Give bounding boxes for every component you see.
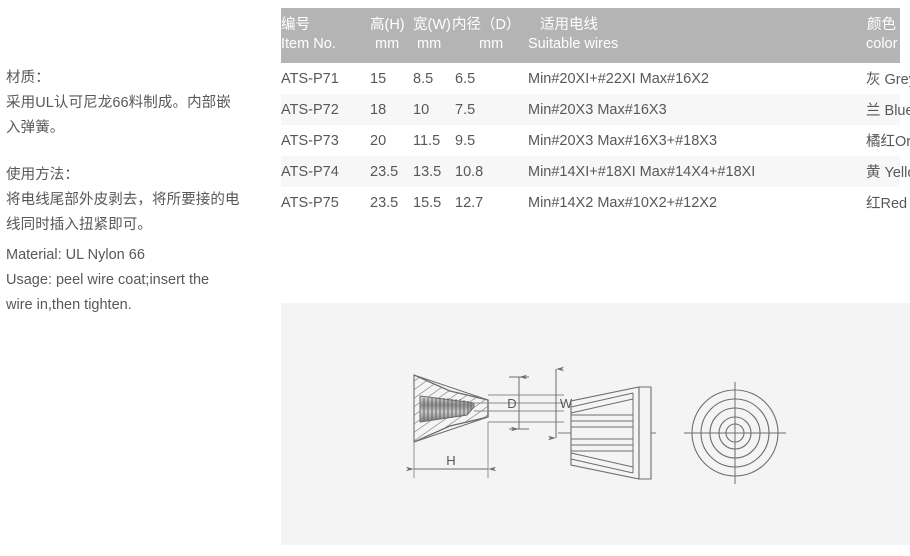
column-header-suitable-wires-en: Suitable wires [528, 35, 866, 54]
column-header-height: 高(H) mm [370, 8, 413, 63]
usage-body-cn-line2: 线同时插入扭紧即可。 [6, 213, 264, 238]
column-header-inner-diameter: 内径（D） mm [455, 8, 528, 63]
material-body-cn-line2: 入弹簧。 [6, 116, 264, 141]
material-note-en: Material: UL Nylon 66 [6, 243, 256, 268]
column-header-item-no-cn: 编号 [281, 16, 370, 35]
material-note-cn: 材质： 采用UL认可尼龙66料制成。内部嵌 入弹簧。 [6, 66, 264, 141]
side-view-nose [639, 387, 651, 479]
usage-title-cn: 使用方法： [6, 163, 264, 188]
cell-height: 23.5 [370, 156, 413, 187]
cell-item-no: ATS-P72 [281, 94, 370, 125]
material-title-cn: 材质： [6, 66, 264, 91]
cell-width: 8.5 [413, 63, 455, 94]
figure-front-view [684, 382, 786, 484]
specification-table: 编号 Item No. 高(H) mm 宽(W) mm 内径（D） mm 适用电… [281, 8, 900, 218]
cell-color: 灰 Grey [866, 63, 900, 94]
cell-height: 23.5 [370, 187, 413, 218]
column-header-height-cn: 高(H) [370, 16, 413, 35]
cell-inner-diameter: 7.5 [455, 94, 528, 125]
cell-suitable-wires: Min#20XI+#22XI Max#16X2 [528, 63, 866, 94]
table-row: ATS-P73 20 11.5 9.5 Min#20X3 Max#16X3+#1… [281, 125, 900, 156]
table-body: ATS-P71 15 8.5 6.5 Min#20XI+#22XI Max#16… [281, 63, 900, 218]
cell-color: 黄 Yellow [866, 156, 900, 187]
table-header: 编号 Item No. 高(H) mm 宽(W) mm 内径（D） mm 适用电… [281, 8, 900, 63]
cell-color: 橘红Orange [866, 125, 900, 156]
cell-suitable-wires: Min#20X3 Max#16X3+#18X3 [528, 125, 866, 156]
cell-width: 11.5 [413, 125, 455, 156]
cell-width: 10 [413, 94, 455, 125]
notes-spacer [6, 141, 264, 163]
column-header-inner-diameter-unit: mm [455, 35, 528, 54]
table-row: ATS-P75 23.5 15.5 12.7 Min#14X2 Max#10X2… [281, 187, 900, 218]
cell-width: 13.5 [413, 156, 455, 187]
cell-width: 15.5 [413, 187, 455, 218]
technical-drawing: D W H [281, 303, 910, 545]
column-header-height-unit: mm [370, 35, 413, 54]
usage-note-en-line1: Usage: peel wire coat;insert the [6, 268, 256, 293]
cell-inner-diameter: 12.7 [455, 187, 528, 218]
column-header-item-no: 编号 Item No. [281, 8, 370, 63]
cell-suitable-wires: Min#20X3 Max#16X3 [528, 94, 866, 125]
column-header-width-cn: 宽(W) [413, 16, 455, 35]
cell-item-no: ATS-P74 [281, 156, 370, 187]
technical-drawing-panel: D W H [281, 303, 910, 545]
cell-inner-diameter: 9.5 [455, 125, 528, 156]
column-header-color-cn: 颜色 [866, 16, 900, 35]
figure-side-view [558, 387, 656, 479]
column-header-color-en: color [866, 35, 900, 54]
cell-suitable-wires: Min#14XI+#18XI Max#14X4+#18XI [528, 156, 866, 187]
product-notes-en: Material: UL Nylon 66 Usage: peel wire c… [6, 243, 256, 318]
cell-color: 兰 Blue [866, 94, 900, 125]
column-header-suitable-wires: 适用电线 Suitable wires [528, 8, 866, 63]
dimension-label-d: D [507, 396, 516, 411]
cell-suitable-wires: Min#14X2 Max#10X2+#12X2 [528, 187, 866, 218]
cell-item-no: ATS-P73 [281, 125, 370, 156]
table-row: ATS-P71 15 8.5 6.5 Min#20XI+#22XI Max#16… [281, 63, 900, 94]
table-row: ATS-P74 23.5 13.5 10.8 Min#14XI+#18XI Ma… [281, 156, 900, 187]
dimension-label-h: H [446, 453, 455, 468]
column-header-item-no-en: Item No. [281, 35, 370, 54]
column-header-width-unit: mm [413, 35, 455, 54]
column-header-width: 宽(W) mm [413, 8, 455, 63]
cell-height: 18 [370, 94, 413, 125]
side-view-body [571, 387, 639, 479]
column-header-suitable-wires-cn: 适用电线 [528, 16, 866, 35]
column-header-inner-diameter-cn: 内径（D） [452, 16, 528, 35]
cell-inner-diameter: 10.8 [455, 156, 528, 187]
usage-note-en-line2: wire in,then tighten. [6, 293, 256, 318]
usage-note-cn: 使用方法： 将电线尾部外皮剥去，将所要接的电 线同时插入扭紧即可。 [6, 163, 264, 238]
material-body-cn-line1: 采用UL认可尼龙66料制成。内部嵌 [6, 91, 264, 116]
cell-item-no: ATS-P71 [281, 63, 370, 94]
table-header-row: 编号 Item No. 高(H) mm 宽(W) mm 内径（D） mm 适用电… [281, 8, 900, 63]
figure-cross-section: D W H [414, 369, 573, 478]
cell-color: 红Red [866, 187, 900, 218]
usage-body-cn-line1: 将电线尾部外皮剥去，将所要接的电 [6, 188, 264, 213]
cell-height: 15 [370, 63, 413, 94]
product-notes: 材质： 采用UL认可尼龙66料制成。内部嵌 入弹簧。 使用方法： 将电线尾部外皮… [6, 66, 264, 238]
cell-height: 20 [370, 125, 413, 156]
table-row: ATS-P72 18 10 7.5 Min#20X3 Max#16X3 兰 Bl… [281, 94, 900, 125]
column-header-color: 颜色 color [866, 8, 900, 63]
cell-inner-diameter: 6.5 [455, 63, 528, 94]
cell-item-no: ATS-P75 [281, 187, 370, 218]
